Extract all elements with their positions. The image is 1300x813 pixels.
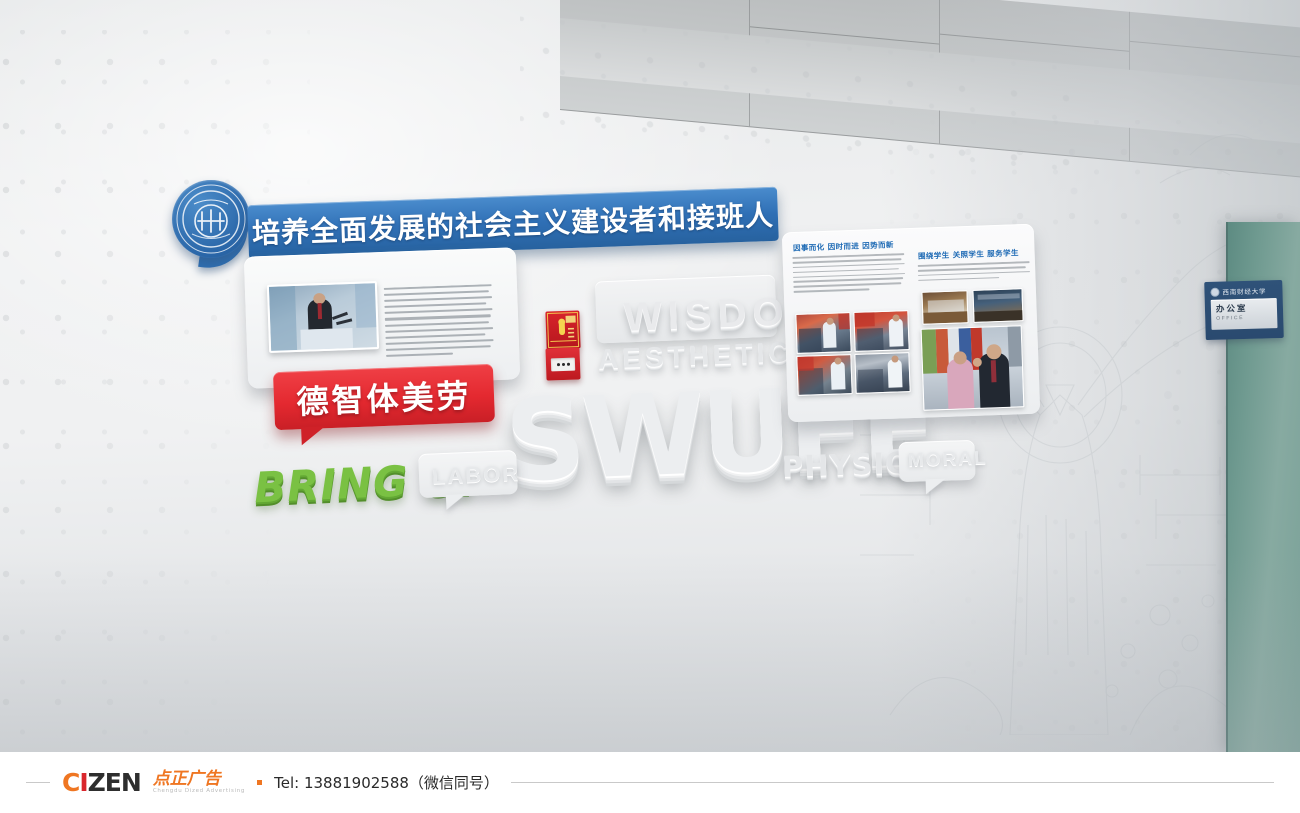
footer-bar: CIZEN 点正广告 Chengdu Dized Advertising Tel… (0, 752, 1300, 813)
emblem-mark (172, 180, 250, 258)
relief-word-moral: MORAL (908, 448, 988, 472)
right-panel-photo (921, 325, 1025, 410)
right-panel-photo (854, 352, 910, 394)
footer-telephone: Tel: 13881902588（微信同号） (274, 772, 499, 793)
floor-shadow (0, 552, 1300, 752)
door-sign-university: 西南财经大学 (1222, 285, 1266, 296)
emblem-disc (172, 180, 250, 258)
right-panel-photo (853, 310, 909, 352)
red-callout-text: 德智体美劳 (296, 371, 473, 424)
cizen-logo-i: I (79, 768, 87, 797)
fire-alarm-button[interactable] (545, 347, 580, 380)
door-sign-room-cn: 办公室 (1216, 301, 1272, 315)
right-panel-photo (795, 312, 851, 354)
swufe-emblem (168, 178, 254, 270)
fire-alarm-instruction-plate (545, 310, 580, 349)
left-panel-photo (267, 281, 379, 353)
door-sign-plate: 办公室 OFFICE (1211, 298, 1278, 330)
door-sign-header: 西南财经大学 (1210, 285, 1276, 297)
alarm-press-pad[interactable] (551, 357, 575, 371)
door-sign-room-en: OFFICE (1216, 314, 1272, 322)
right-panel-photo (921, 290, 968, 325)
cizen-logo-c: C (62, 768, 79, 797)
cizen-logo-chinese: 点正广告 Chengdu Dized Advertising (153, 771, 245, 795)
fire-alarm-icon (545, 310, 580, 349)
cizen-logo-rest: ZEN (88, 768, 141, 797)
cizen-logo: CIZEN (62, 768, 141, 797)
cizen-logo-chinese-text: 点正广告 (153, 769, 221, 789)
door-sign-emblem-icon (1210, 287, 1219, 296)
cizen-logo-chinese-en: Chengdu Dized Advertising (153, 789, 245, 795)
screenshot-root: SWUFE WISDOM AESTHETIC BRING UP LABOR PH… (0, 0, 1300, 813)
right-panel-body-one (792, 253, 905, 297)
relief-word-labor: LABOR (431, 460, 520, 490)
office-door-sign: 西南财经大学 办公室 OFFICE (1204, 280, 1284, 340)
right-panel-photo (796, 354, 852, 396)
right-panel-photo (972, 288, 1023, 323)
footer-rule-left (26, 782, 50, 783)
left-panel-body-text (384, 284, 495, 366)
headline-banner-text: 培养全面发展的社会主义建设者和接班人 (251, 194, 774, 252)
wall-photograph: SWUFE WISDOM AESTHETIC BRING UP LABOR PH… (0, 0, 1300, 752)
right-panel-body-two (918, 261, 1031, 287)
footer-rule-right (511, 782, 1274, 783)
red-callout-plate: 德智体美劳 (273, 364, 495, 430)
footer-separator-dot (257, 780, 262, 785)
